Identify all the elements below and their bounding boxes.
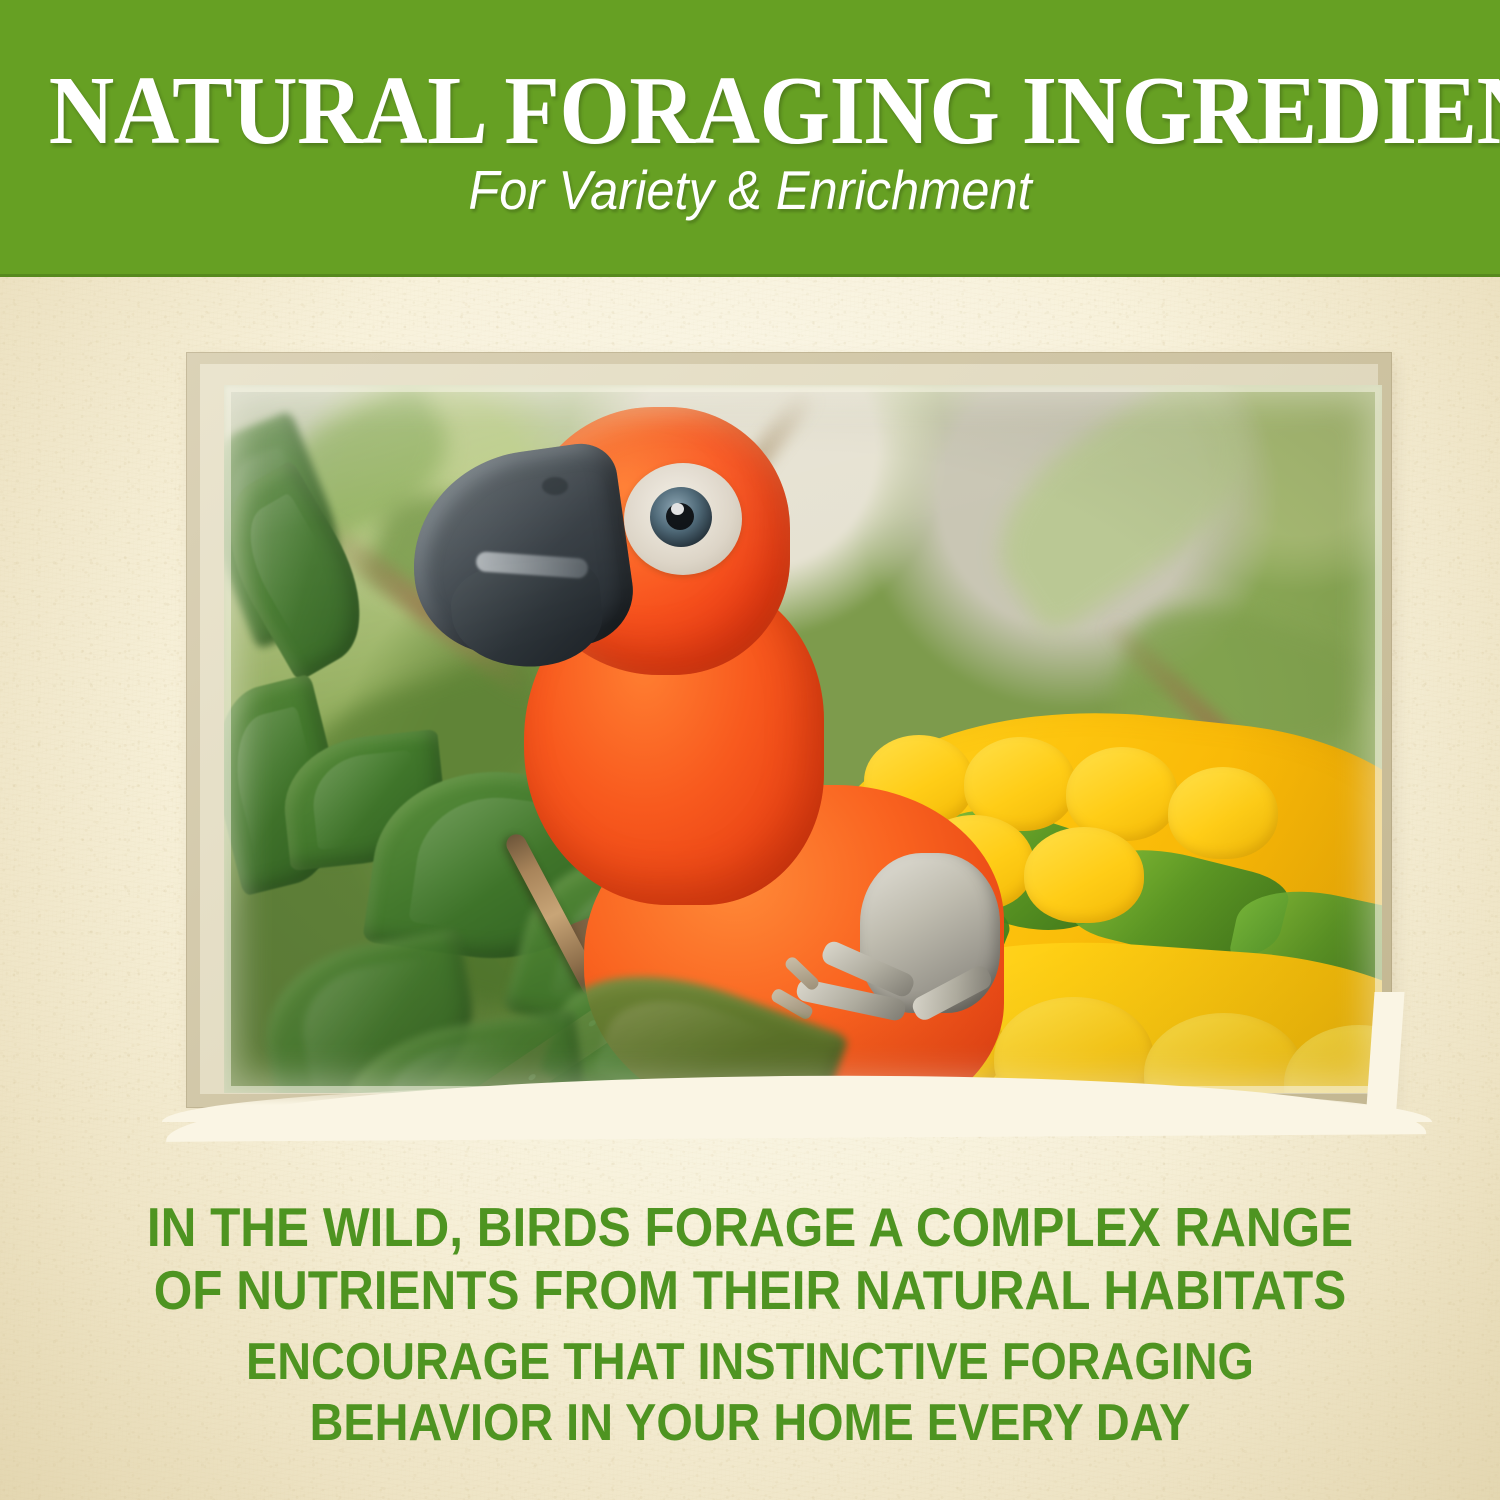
frame-inner-bevel	[200, 364, 1378, 1094]
copy-line: ENCOURAGE THAT INSTINCTIVE FORAGING	[75, 1332, 1425, 1393]
photo-scene	[224, 385, 1382, 1093]
header-banner: NATURAL FORAGING INGREDIENTS For Variety…	[0, 0, 1500, 277]
copy-line: BEHAVIOR IN YOUR HOME EVERY DAY	[75, 1393, 1425, 1454]
photo-frame	[186, 352, 1402, 1120]
parrot-photo	[224, 385, 1382, 1093]
copy-block-wild: IN THE WILD, BIRDS FORAGE A COMPLEX RANG…	[75, 1196, 1425, 1322]
wing-feather	[1024, 827, 1144, 923]
frame-outer-matte	[186, 352, 1392, 1108]
copy-line: IN THE WILD, BIRDS FORAGE A COMPLEX RANG…	[75, 1196, 1425, 1259]
page-title: NATURAL FORAGING INGREDIENTS	[49, 62, 1452, 159]
product-infographic-poster: NATURAL FORAGING INGREDIENTS For Variety…	[0, 0, 1500, 1500]
parrot-nostril	[542, 477, 568, 495]
copy-line: OF NUTRIENTS FROM THEIR NATURAL HABITATS	[75, 1259, 1425, 1322]
parrot-eye-glint	[671, 503, 684, 515]
sun-conure-parrot	[224, 385, 1382, 1093]
page-subtitle: For Variety & Enrichment	[60, 163, 1440, 218]
copy-block-encourage: ENCOURAGE THAT INSTINCTIVE FORAGING BEHA…	[75, 1332, 1425, 1454]
wing-feather	[1168, 767, 1278, 859]
